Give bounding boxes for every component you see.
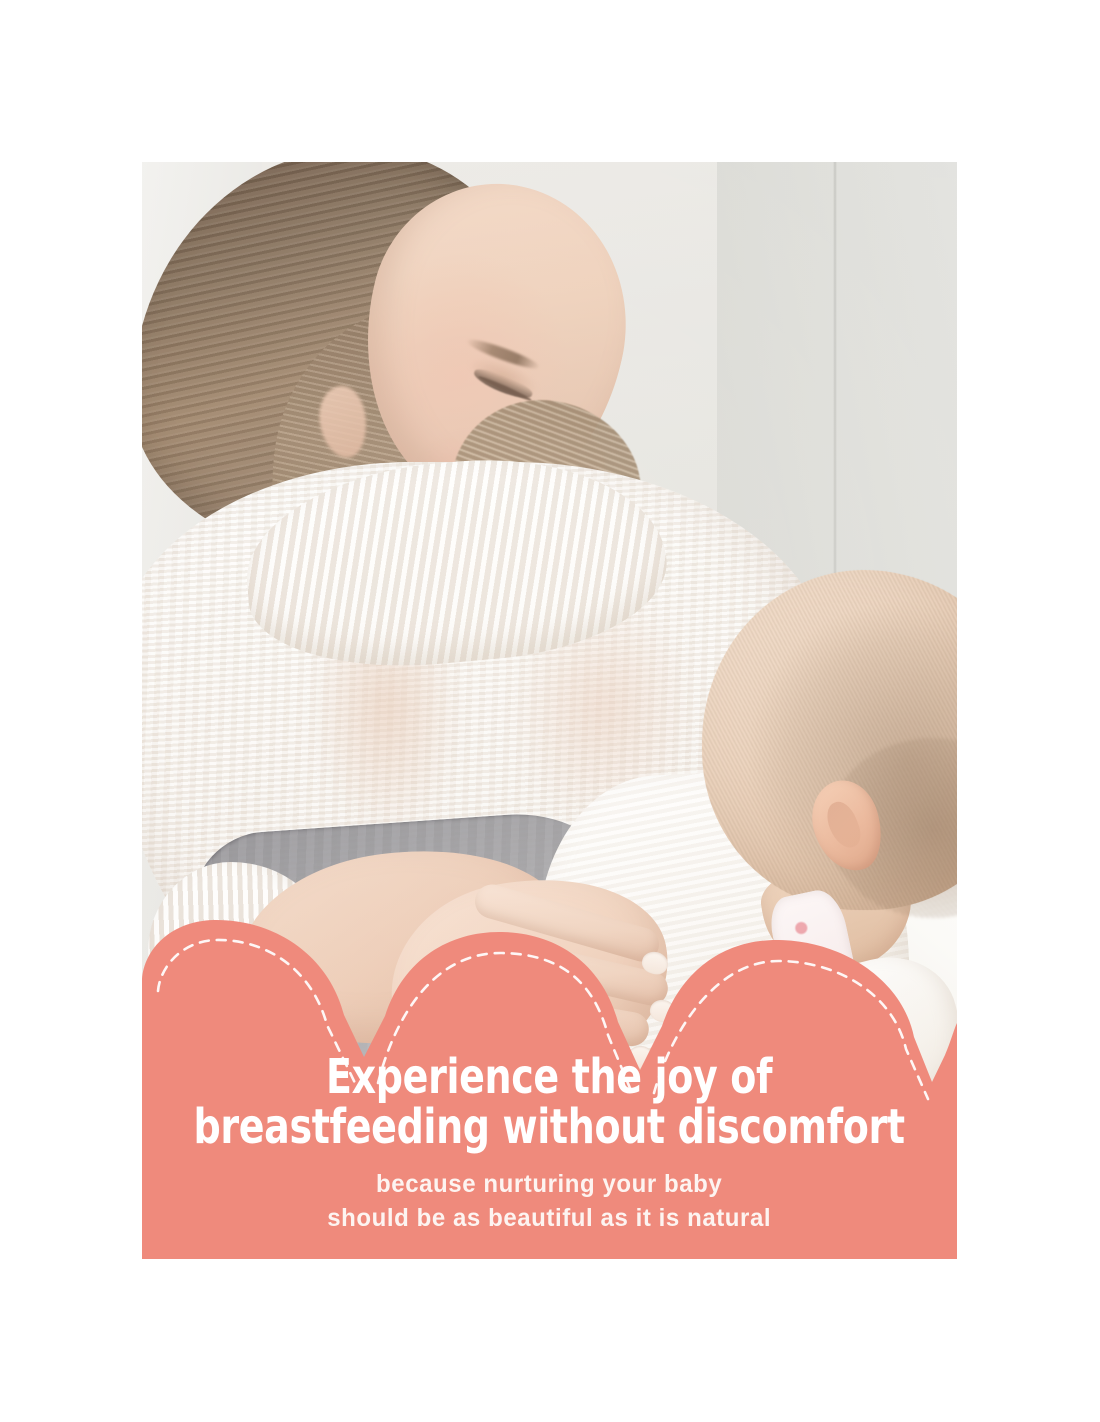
poster-page: Experience the joy of breastfeeding with…	[0, 0, 1100, 1422]
coral-scallop-panel: Experience the joy of breastfeeding with…	[142, 887, 957, 1259]
scallop-fill	[142, 920, 957, 1259]
poster-card: Experience the joy of breastfeeding with…	[142, 162, 957, 1259]
